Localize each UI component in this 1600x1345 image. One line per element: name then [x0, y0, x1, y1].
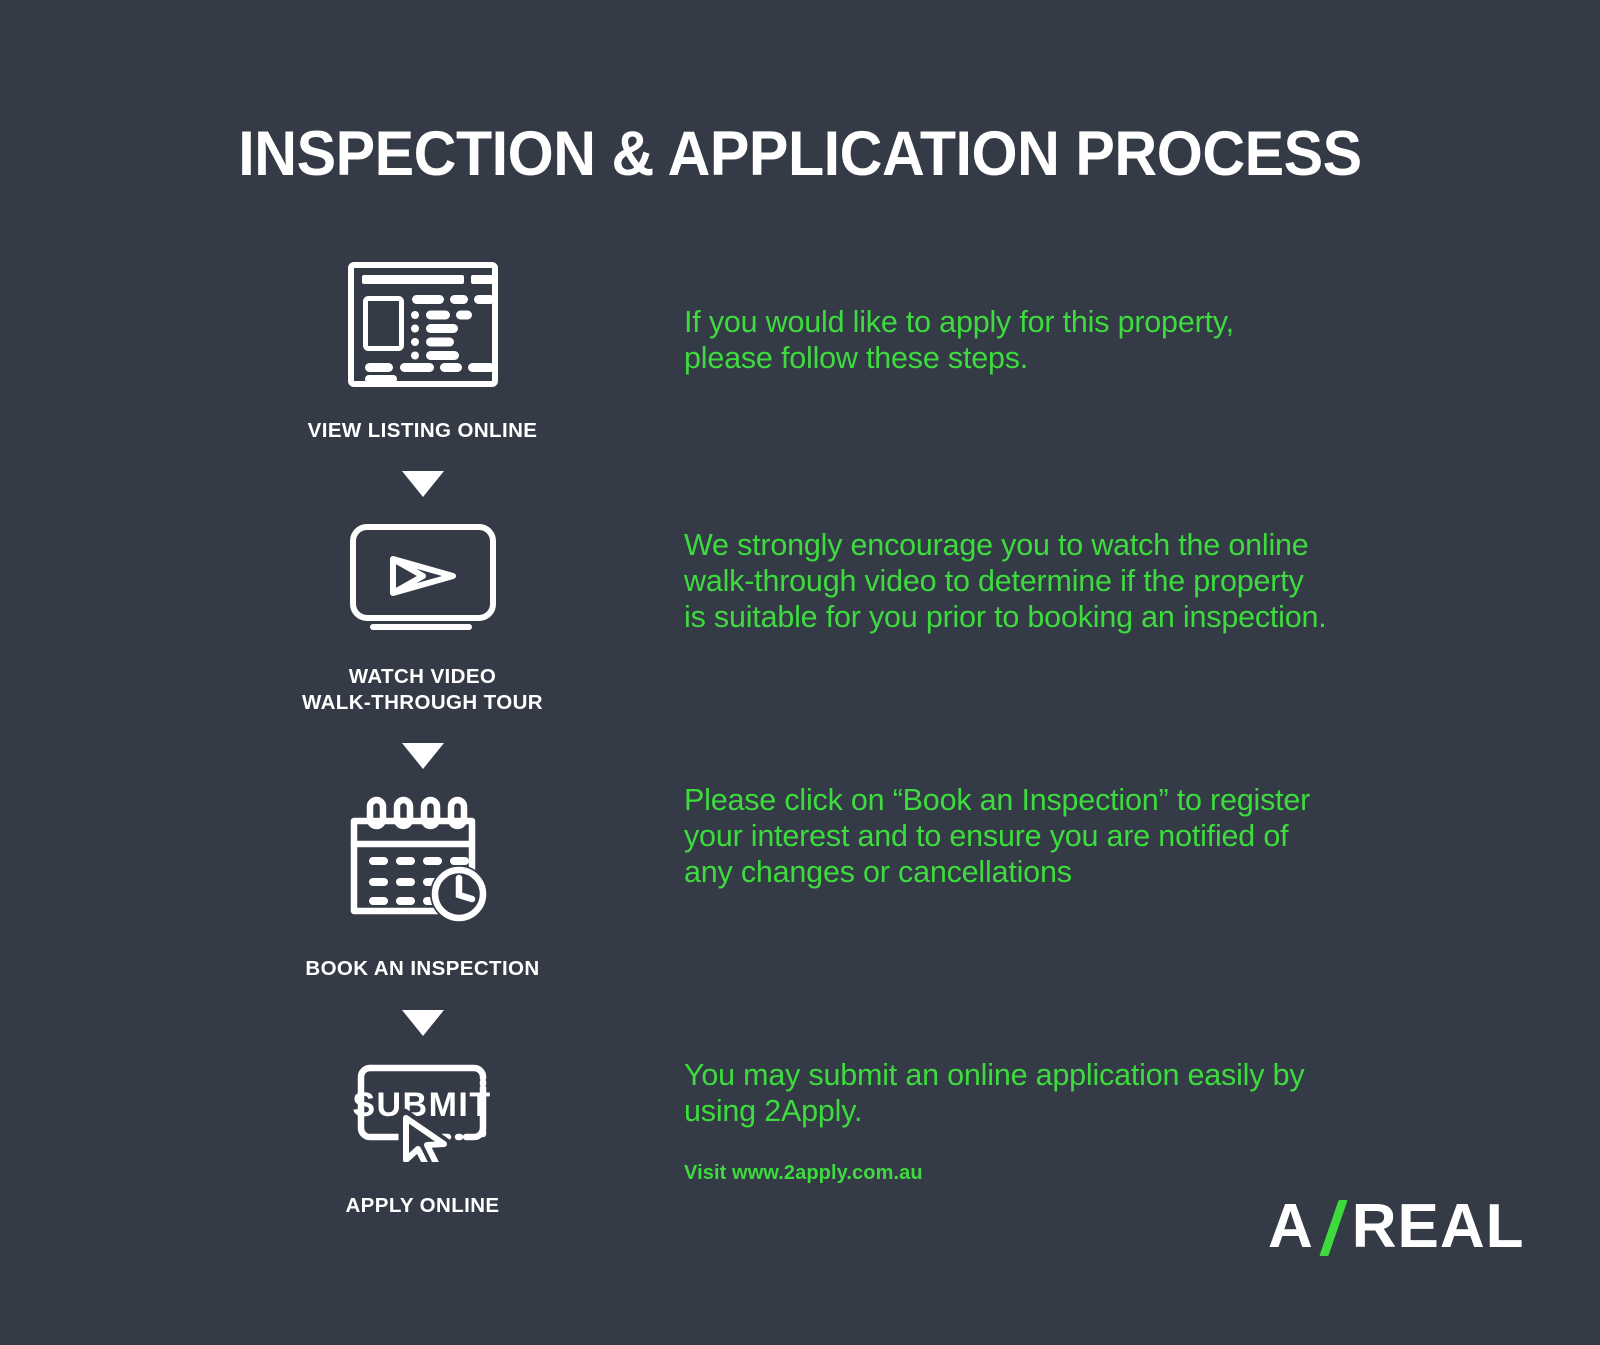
- step-label: VIEW LISTING ONLINE: [308, 418, 538, 443]
- svg-text:SUBMIT: SUBMIT: [352, 1086, 491, 1124]
- steps-column: VIEW LISTING ONLINE WATCH VIDEO WALK-THR…: [250, 262, 595, 1218]
- arrow-down-icon: [402, 743, 444, 769]
- paragraph-video: We strongly encourage you to watch the o…: [684, 528, 1424, 636]
- poster-canvas: INSPECTION & APPLICATION PROCESS: [0, 0, 1600, 1345]
- listing-window-icon: [348, 262, 498, 392]
- step-book-inspection[interactable]: BOOK AN INSPECTION: [250, 795, 595, 981]
- green-slash-icon: [1316, 1198, 1350, 1256]
- paragraph-inspection: Please click on “Book an Inspection” to …: [684, 783, 1404, 891]
- paragraph-apply: You may submit an online application eas…: [684, 1058, 1404, 1130]
- arrow-down-icon: [402, 471, 444, 497]
- step-label: APPLY ONLINE: [345, 1193, 499, 1218]
- calendar-clock-icon: [349, 795, 497, 930]
- logo-word-real: REAL: [1352, 1196, 1525, 1258]
- arrow-down-icon: [402, 1010, 444, 1036]
- brand-logo[interactable]: A REAL: [1268, 1196, 1525, 1258]
- logo-letter-a: A: [1268, 1196, 1314, 1258]
- arrow-connector-1: [250, 443, 595, 523]
- visit-link[interactable]: Visit www.2apply.com.au: [684, 1162, 923, 1185]
- submit-button-cursor-icon: SUBMIT: [348, 1062, 498, 1167]
- arrow-connector-2: [250, 715, 595, 795]
- video-play-monitor-icon: [349, 523, 497, 638]
- step-view-listing-online[interactable]: VIEW LISTING ONLINE: [250, 262, 595, 443]
- step-watch-video[interactable]: WATCH VIDEO WALK-THROUGH TOUR: [250, 523, 595, 715]
- paragraph-intro: If you would like to apply for this prop…: [684, 305, 1364, 377]
- step-label: WATCH VIDEO WALK-THROUGH TOUR: [302, 664, 543, 715]
- step-label: BOOK AN INSPECTION: [305, 956, 539, 981]
- arrow-connector-3: [250, 982, 595, 1062]
- step-apply-online[interactable]: SUBMIT APPLY ONLINE: [250, 1062, 595, 1218]
- page-title: INSPECTION & APPLICATION PROCESS: [48, 118, 1552, 190]
